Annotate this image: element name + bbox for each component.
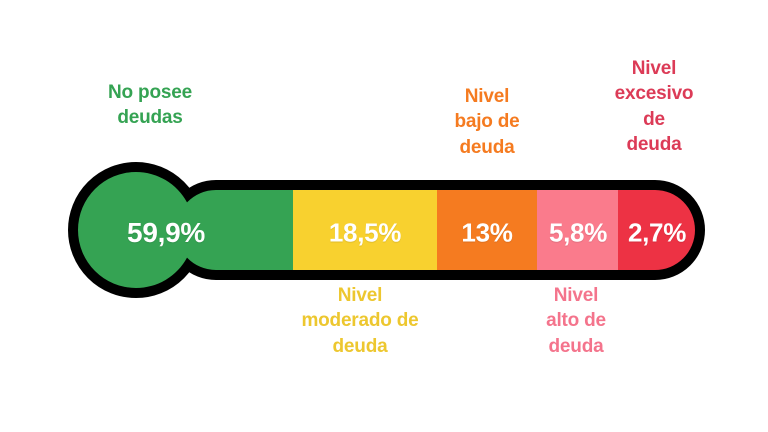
callout-alto-de-deuda: Nivel alto de deuda bbox=[508, 283, 644, 359]
callout-moderado-de-deuda: Nivel moderado de deuda bbox=[279, 283, 441, 359]
callout-excesivo-de-deuda: Nivel excesivo de deuda bbox=[588, 56, 720, 157]
value-label-moderado: 18,5% bbox=[329, 218, 401, 249]
callout-no-deudas: No posee deudas bbox=[60, 80, 240, 131]
value-label-excesivo: 2,7% bbox=[628, 218, 686, 249]
value-label-no-deudas: 59,9% bbox=[127, 217, 205, 249]
value-label-bajo: 13% bbox=[461, 218, 512, 249]
debt-level-thermometer-infographic: 59,9% 18,5% 13% 5,8% 2,7% No posee deuda… bbox=[0, 0, 768, 432]
callout-bajo-de-deuda: Nivel bajo de deuda bbox=[422, 84, 552, 160]
value-label-alto: 5,8% bbox=[549, 218, 607, 249]
